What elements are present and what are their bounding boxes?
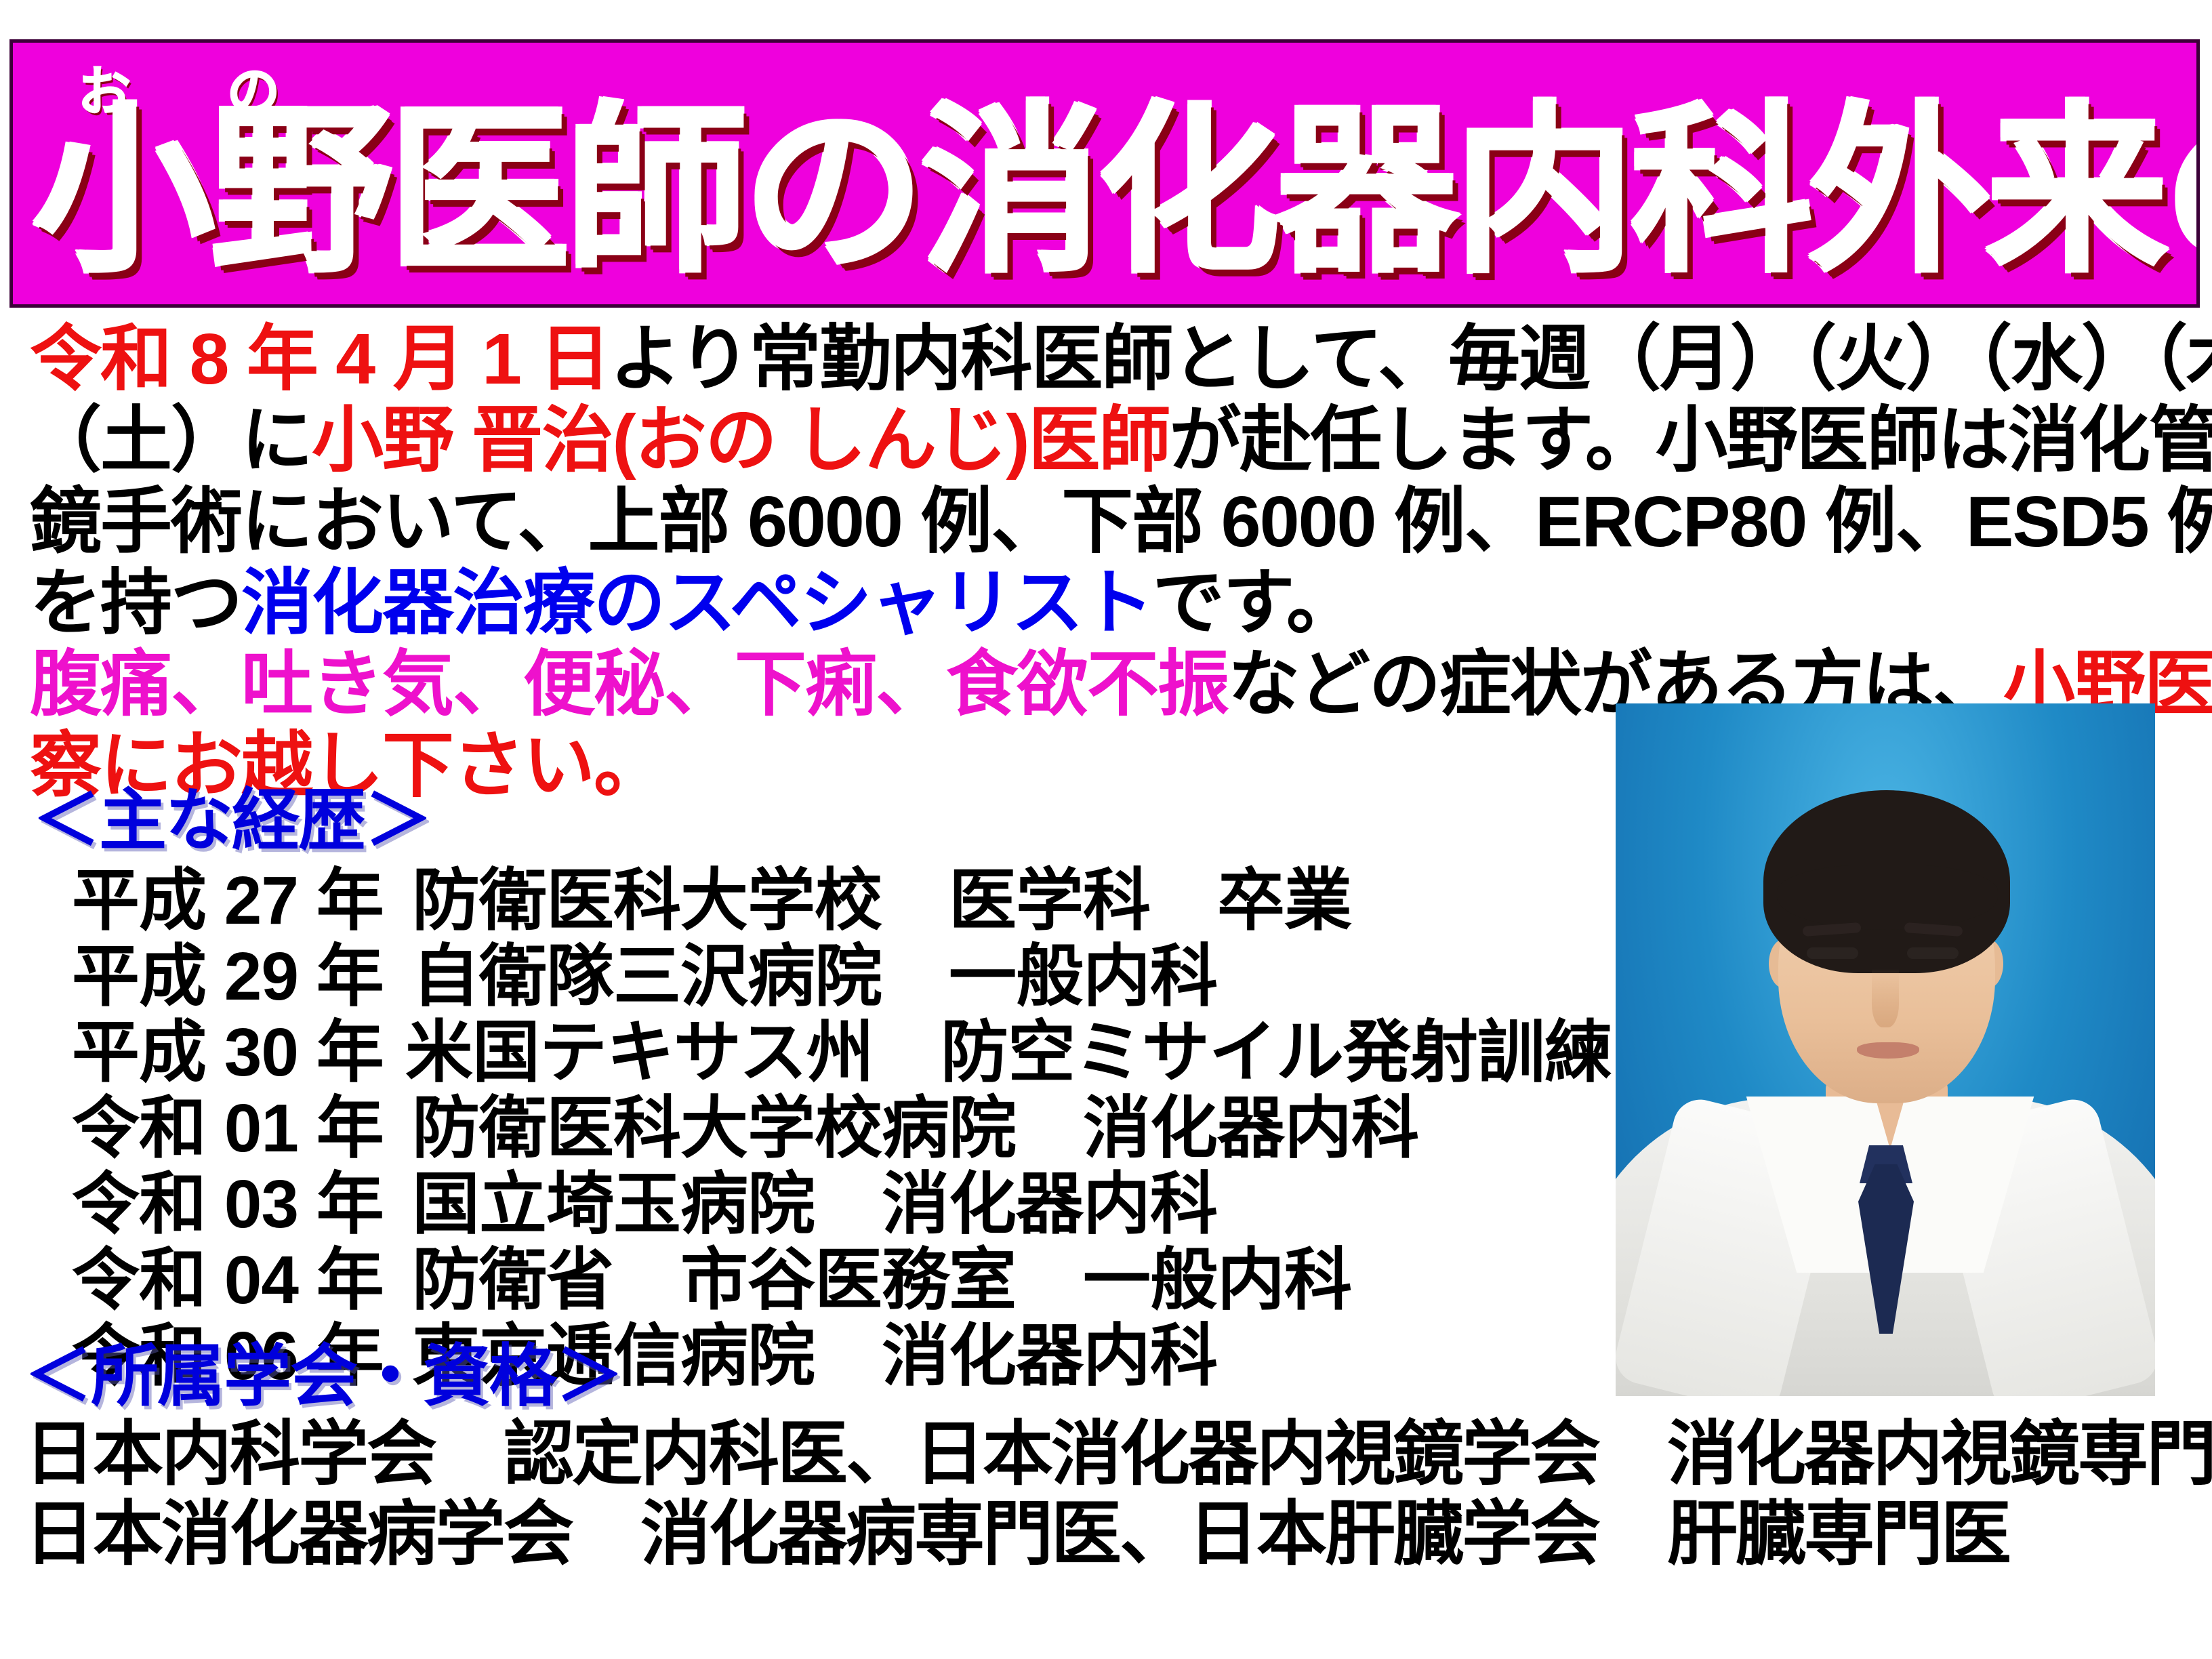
career-year: 令和 01 年 bbox=[33, 1090, 412, 1166]
career-desc: 国立埼玉病院 消化器内科 bbox=[412, 1166, 1612, 1242]
career-year: 平成 27 年 bbox=[33, 863, 412, 939]
announcement-line-1-rest: より常勤内科医師として、毎週（月）（火）（水）（木） bbox=[610, 319, 2212, 399]
announcement-line-2-a: （土）に bbox=[30, 401, 312, 480]
career-desc: 防衛医科大学校病院 消化器内科 bbox=[412, 1090, 1612, 1166]
qualification-line: 日本消化器病学会 消化器病専門医、日本肝臓学会 肝臓専門医 bbox=[24, 1494, 2200, 1574]
career-row: 平成 30 年 米国テキサス州 防空ミサイル発射訓練 bbox=[33, 1015, 1612, 1090]
eye-right bbox=[1907, 947, 1959, 959]
announcement-line-4-c: です。 bbox=[1153, 563, 1357, 643]
announcement-line-2-c: が赴任します。小野医師は消化管内視 bbox=[1170, 401, 2212, 480]
doctor-portrait-photo bbox=[1616, 703, 2155, 1396]
announcement-line-2: （土）に小野 晋治(おの しんじ)医師が赴任します。小野医師は消化管内視 bbox=[30, 400, 2198, 481]
header-banner: お の 小野医師の消化器内科外来のご案内 bbox=[9, 39, 2200, 308]
career-list: 平成 27 年 防衛医科大学校 医学科 卒業 平成 29 年 自衛隊三沢病院 一… bbox=[33, 863, 1612, 1394]
effective-date: 令和 8 年 4 月 1 日 bbox=[30, 319, 610, 399]
eye-left bbox=[1807, 947, 1858, 959]
procedure-counts: 鏡手術において、上部 6000 例、下部 6000 例、ERCP80 例、ESD… bbox=[30, 482, 2212, 562]
career-row: 平成 29 年 自衛隊三沢病院 一般内科 bbox=[33, 939, 1612, 1015]
career-year: 令和 04 年 bbox=[33, 1242, 412, 1318]
specialist-phrase: 消化器治療のスペシャリスト bbox=[241, 563, 1153, 643]
symptom-list: 腹痛、吐き気、便秘、下痢、食欲不振 bbox=[30, 644, 1228, 724]
nose bbox=[1872, 969, 1899, 1027]
career-desc: 自衛隊三沢病院 一般内科 bbox=[412, 939, 1612, 1015]
career-heading: ＜主な経歴＞ bbox=[33, 783, 1612, 859]
doctor-name: 小野 晋治(おの しんじ)医師 bbox=[312, 401, 1170, 480]
career-section: ＜主な経歴＞ 平成 27 年 防衛医科大学校 医学科 卒業 平成 29 年 自衛… bbox=[33, 783, 1612, 1394]
career-desc: 防衛省 市谷医務室 一般内科 bbox=[412, 1242, 1612, 1318]
mouth bbox=[1857, 1042, 1919, 1059]
career-year: 平成 29 年 bbox=[33, 939, 412, 1015]
career-row: 令和 03 年 国立埼玉病院 消化器内科 bbox=[33, 1166, 1612, 1242]
page-title: 小野医師の消化器内科外来のご案内 bbox=[33, 93, 2182, 289]
career-row: 令和 01 年 防衛医科大学校病院 消化器内科 bbox=[33, 1090, 1612, 1166]
hair-fringe bbox=[1777, 865, 1998, 930]
career-desc: 防衛医科大学校 医学科 卒業 bbox=[412, 863, 1612, 939]
career-row: 令和 04 年 防衛省 市谷医務室 一般内科 bbox=[33, 1242, 1612, 1318]
announcement-line-1: 令和 8 年 4 月 1 日より常勤内科医師として、毎週（月）（火）（水）（木） bbox=[30, 319, 2198, 400]
career-year: 令和 03 年 bbox=[33, 1166, 412, 1242]
qualification-line: 日本内科学会 認定内科医、日本消化器内視鏡学会 消化器内視鏡専門医 bbox=[24, 1414, 2200, 1494]
career-row: 平成 27 年 防衛医科大学校 医学科 卒業 bbox=[33, 863, 1612, 939]
career-year: 平成 30 年 bbox=[33, 1015, 405, 1090]
announcement-line-4-a: を持つ bbox=[30, 563, 241, 643]
announcement-line-4: を持つ消化器治療のスペシャリストです。 bbox=[30, 562, 2198, 644]
announcement-line-3: 鏡手術において、上部 6000 例、下部 6000 例、ERCP80 例、ESD… bbox=[30, 481, 2198, 562]
career-desc: 米国テキサス州 防空ミサイル発射訓練 bbox=[405, 1015, 1612, 1090]
